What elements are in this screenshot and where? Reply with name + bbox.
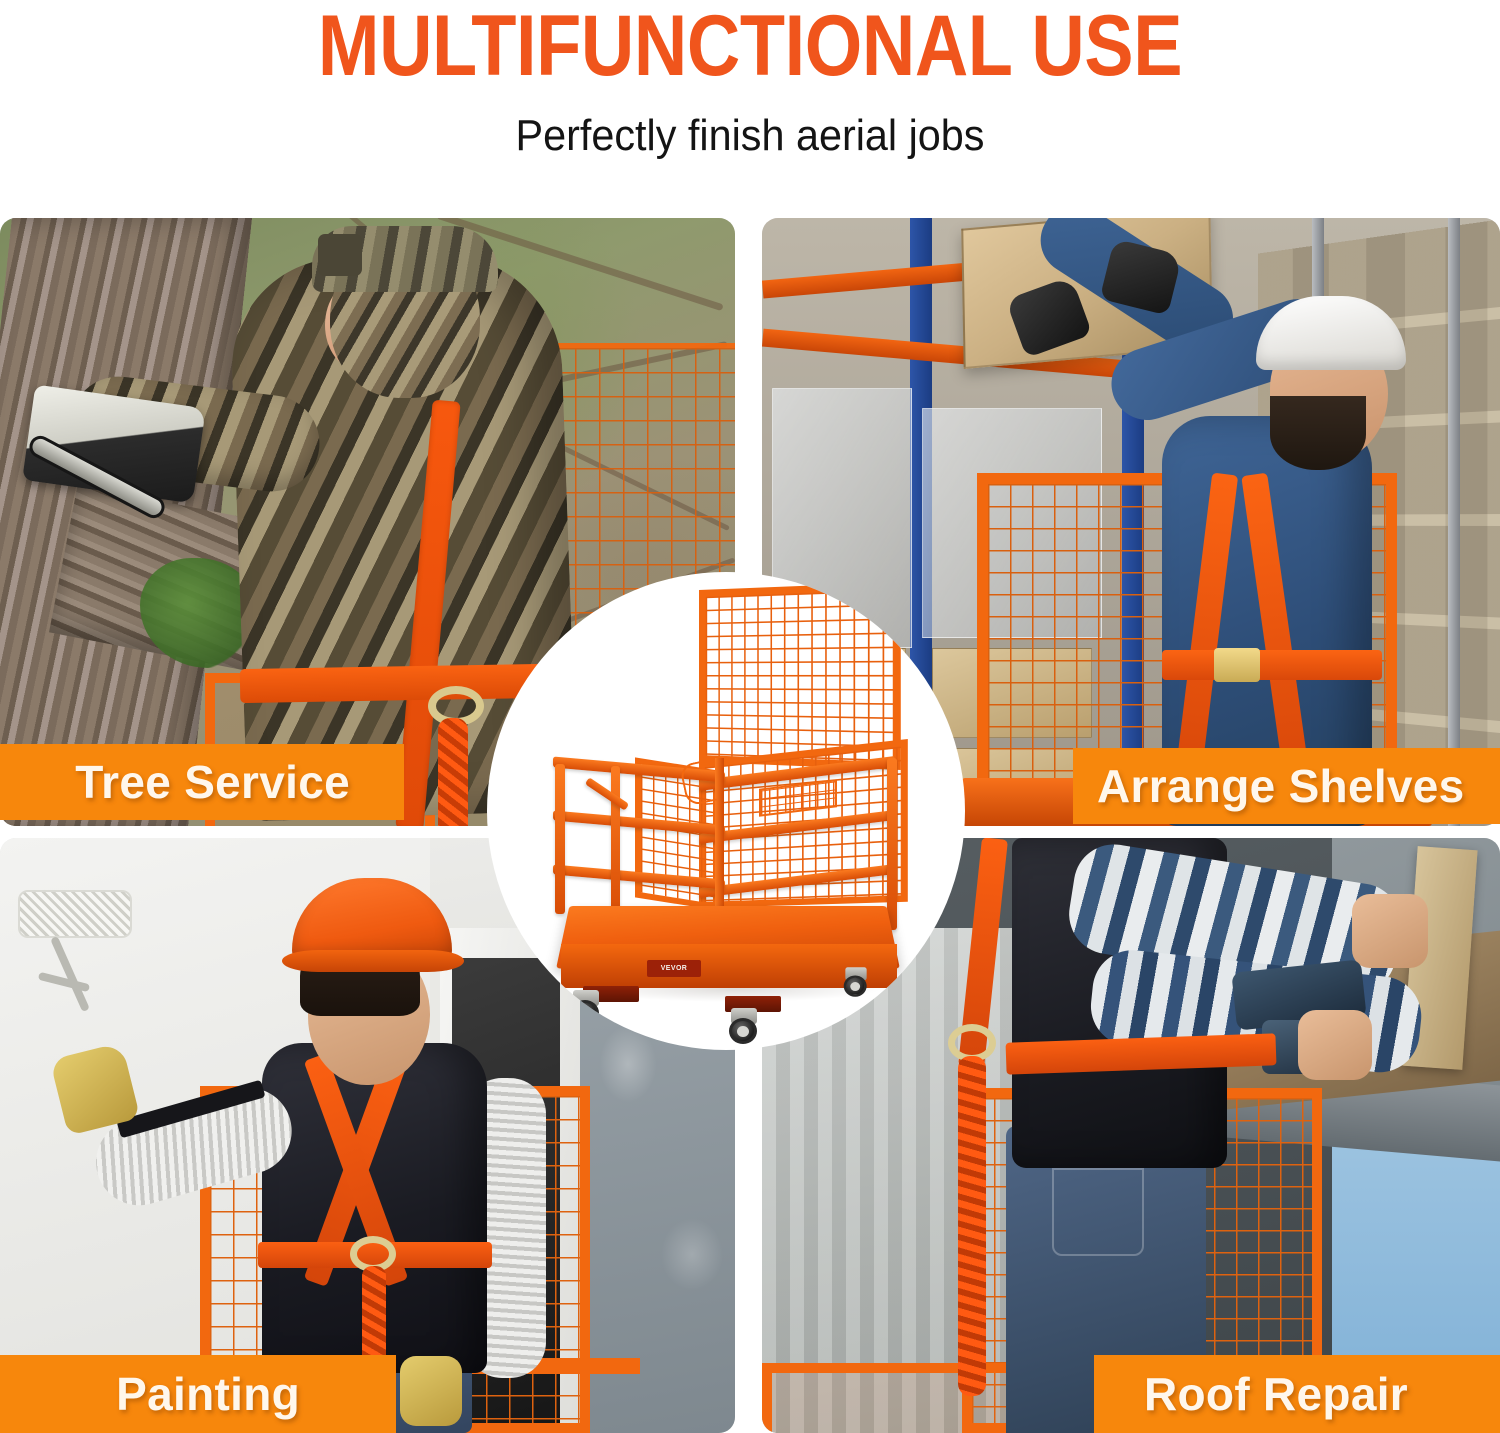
corner-post-right	[887, 758, 897, 930]
caster-wheel-front-right	[727, 1008, 761, 1044]
rack-upright	[1448, 218, 1460, 826]
product-callout-circle: VEVOR	[487, 572, 965, 1050]
harness-buckle	[1214, 648, 1260, 682]
caster-hub	[850, 982, 860, 991]
harness-belt	[1162, 650, 1382, 680]
product-infographic: MULTIFUNCTIONAL USE Perfectly finish aer…	[0, 0, 1500, 1433]
label-text-tree-service: Tree Service	[75, 759, 350, 805]
mid-post-left	[611, 766, 620, 918]
brand-label: VEVOR	[647, 960, 701, 977]
brace-diagonal	[585, 777, 629, 810]
label-text-arrange-shelves: Arrange Shelves	[1097, 763, 1465, 809]
back-mesh-guard	[699, 582, 901, 770]
worker-beard	[1270, 396, 1366, 470]
safety-rope	[438, 718, 468, 826]
caster-hub	[579, 1008, 591, 1019]
header: MULTIFUNCTIONAL USE Perfectly finish aer…	[0, 0, 1500, 218]
gate-post	[715, 758, 724, 918]
hard-hat-brim	[282, 950, 464, 972]
label-banner-arrange-shelves: Arrange Shelves	[1073, 748, 1500, 824]
label-banner-painting: Painting	[0, 1355, 396, 1433]
label-banner-roof-repair: Roof Repair	[1094, 1355, 1500, 1433]
label-text-roof-repair: Roof Repair	[1144, 1371, 1408, 1417]
brand-label-text: VEVOR	[661, 965, 688, 972]
label-banner-tree-service: Tree Service	[0, 744, 404, 820]
ear-protection-icon	[318, 234, 362, 276]
paint-roller	[18, 890, 132, 938]
page-subtitle: Perfectly finish aerial jobs	[45, 108, 1455, 164]
caster-wheel-rear-right	[842, 967, 870, 997]
worker-hand	[1352, 894, 1428, 968]
caster-wheel-front-left	[569, 990, 603, 1026]
work-glove	[400, 1356, 462, 1426]
jeans-pocket	[1052, 1168, 1144, 1256]
label-text-painting: Painting	[116, 1371, 300, 1417]
page-title: MULTIFUNCTIONAL USE	[105, 0, 1395, 94]
product-work-platform-cage: VEVOR	[487, 572, 965, 1050]
worker-hand	[1298, 1010, 1372, 1080]
caster-hub	[737, 1026, 749, 1037]
safety-rope	[958, 1056, 986, 1396]
corner-post-left	[555, 764, 565, 914]
